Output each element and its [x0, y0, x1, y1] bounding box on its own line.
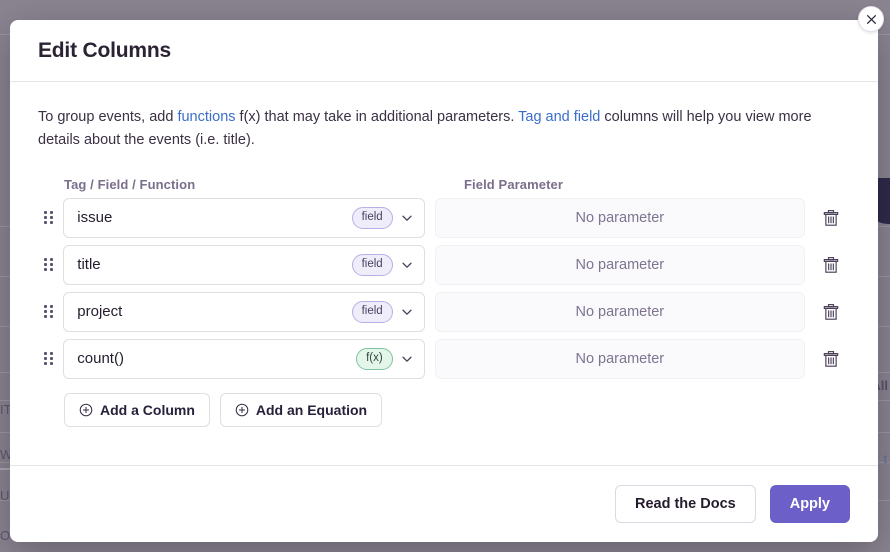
close-icon — [866, 14, 877, 25]
type-badge: field — [352, 301, 393, 324]
type-badge: field — [352, 207, 393, 230]
column-select-label: title — [77, 256, 351, 273]
delete-row-button[interactable] — [813, 339, 850, 379]
description-text-1: To group events, add — [38, 109, 177, 125]
table-row: project field No parameter — [38, 292, 850, 332]
column-headers: Tag / Field / Function Field Parameter — [38, 177, 850, 192]
column-header-tag-field-function: Tag / Field / Function — [64, 177, 464, 192]
modal-body: To group events, add functions f(x) that… — [10, 82, 878, 465]
modal-footer: Read the Docs Apply — [10, 465, 878, 542]
drag-handle-icon[interactable] — [38, 292, 63, 332]
trash-icon — [822, 256, 840, 274]
field-parameter-cell: No parameter — [435, 292, 805, 332]
column-select-project[interactable]: project field — [63, 292, 424, 332]
page-title: Edit Columns — [38, 39, 171, 63]
modal-header: Edit Columns — [10, 20, 878, 82]
edit-columns-modal: Edit Columns To group events, add functi… — [10, 20, 878, 542]
background-link[interactable]: t — [884, 452, 887, 466]
plus-circle-icon — [79, 403, 93, 417]
column-select-label: issue — [77, 209, 351, 226]
add-a-column-button[interactable]: Add a Column — [64, 393, 210, 427]
trash-icon — [822, 350, 840, 368]
close-button[interactable] — [858, 6, 884, 32]
add-an-equation-button[interactable]: Add an Equation — [220, 393, 382, 427]
column-select-label: project — [77, 303, 351, 320]
drag-handle-icon[interactable] — [38, 339, 63, 379]
field-parameter-cell: No parameter — [435, 198, 805, 238]
trash-icon — [822, 303, 840, 321]
apply-button[interactable]: Apply — [770, 485, 850, 523]
column-select-issue[interactable]: issue field — [63, 198, 424, 238]
column-select-title[interactable]: title field — [63, 245, 424, 285]
column-header-field-parameter: Field Parameter — [464, 177, 563, 192]
delete-row-button[interactable] — [813, 198, 850, 238]
modal-description: To group events, add functions f(x) that… — [38, 106, 850, 153]
drag-handle-icon[interactable] — [38, 245, 63, 285]
chevron-down-icon — [400, 352, 414, 366]
add-buttons-group: Add a Column Add an Equation — [64, 393, 850, 427]
read-the-docs-button[interactable]: Read the Docs — [615, 485, 756, 523]
description-text-2: f(x) that may take in additional paramet… — [236, 109, 519, 125]
functions-link[interactable]: functions — [177, 109, 235, 125]
background-edge-text: O — [0, 528, 10, 543]
trash-icon — [822, 209, 840, 227]
add-a-column-label: Add a Column — [100, 402, 195, 418]
table-row: title field No parameter — [38, 245, 850, 285]
background-edge-text: U — [0, 488, 9, 503]
type-badge: field — [352, 254, 393, 277]
chevron-down-icon — [400, 258, 414, 272]
chevron-down-icon — [400, 305, 414, 319]
chevron-down-icon — [400, 211, 414, 225]
delete-row-button[interactable] — [813, 245, 850, 285]
table-row: issue field No parameter — [38, 198, 850, 238]
field-parameter-cell: No parameter — [435, 339, 805, 379]
add-an-equation-label: Add an Equation — [256, 402, 367, 418]
column-rows-list: issue field No parameter — [38, 198, 850, 379]
field-parameter-cell: No parameter — [435, 245, 805, 285]
column-select-label: count() — [77, 350, 356, 367]
type-badge: f(x) — [356, 348, 393, 371]
tag-and-field-link[interactable]: Tag and field — [518, 109, 600, 125]
drag-handle-icon[interactable] — [38, 198, 63, 238]
column-select-count[interactable]: count() f(x) — [63, 339, 424, 379]
plus-circle-icon — [235, 403, 249, 417]
table-row: count() f(x) No parameter — [38, 339, 850, 379]
delete-row-button[interactable] — [813, 292, 850, 332]
